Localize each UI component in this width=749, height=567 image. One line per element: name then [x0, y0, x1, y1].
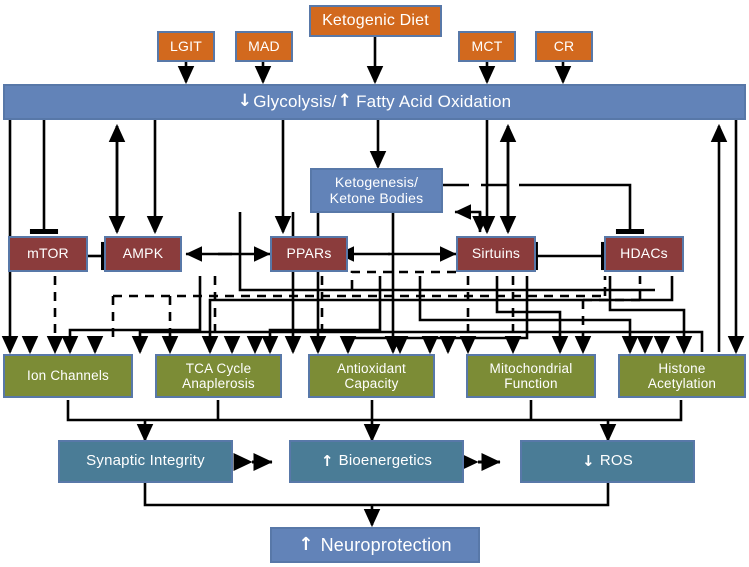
sirtuins-ppars-dashed: [352, 272, 456, 290]
neuroprotection-label: Neuroprotection: [321, 535, 452, 555]
bar-to-ampk: [117, 120, 155, 232]
node-mtor[interactable]: mTOR: [8, 236, 88, 272]
pathway-diagram: Ketogenic Diet LGIT MAD MCT CR ↓ Glycoly…: [0, 0, 749, 567]
node-ketogenic-diet[interactable]: Ketogenic Diet: [309, 5, 442, 37]
neuroprotection-up-arrow-icon: ↑: [298, 535, 313, 555]
ion-channels-line1: Ion Channels: [27, 368, 109, 383]
effects-to-outcomes: [68, 400, 681, 440]
tca-line1: TCA Cycle: [186, 361, 252, 376]
mtor-label: mTOR: [27, 246, 69, 262]
outcomes-to-neuroprotection: [145, 483, 608, 525]
bioenergetics-label: Bioenergetics: [339, 453, 433, 470]
node-ampk[interactable]: AMPK: [104, 236, 182, 272]
lgit-label: LGIT: [170, 39, 202, 55]
up-arrow-icon: ↑: [338, 92, 352, 111]
node-mad[interactable]: MAD: [235, 31, 293, 62]
node-sirtuins[interactable]: Sirtuins: [456, 236, 536, 272]
ppars-label: PPARs: [286, 246, 331, 262]
mitochondrial-line1: Mitochondrial: [490, 361, 573, 376]
tca-line2: Anaplerosis: [182, 376, 255, 391]
node-lgit[interactable]: LGIT: [157, 31, 215, 62]
node-synaptic-integrity[interactable]: Synaptic Integrity: [58, 440, 233, 483]
bar-to-sirtuins: [487, 120, 508, 232]
glycolysis-label: Glycolysis/: [253, 92, 336, 111]
mad-label: MAD: [248, 39, 280, 55]
node-neuroprotection[interactable]: ↑ Neuroprotection: [270, 527, 480, 563]
ampk-label: AMPK: [123, 246, 163, 262]
node-tca-cycle-anaplerosis[interactable]: TCA Cycle Anaplerosis: [155, 354, 282, 398]
node-mct[interactable]: MCT: [458, 31, 516, 62]
node-histone-acetylation[interactable]: Histone Acetylation: [618, 354, 746, 398]
node-metabolic-shift-bar[interactable]: ↓ Glycolysis/ ↑ Fatty Acid Oxidation: [3, 84, 746, 120]
synaptic-integrity-label: Synaptic Integrity: [86, 453, 205, 470]
antioxidant-line2: Capacity: [344, 376, 398, 391]
node-mitochondrial-function[interactable]: Mitochondrial Function: [466, 354, 596, 398]
antioxidant-line1: Antioxidant: [337, 361, 406, 376]
histone-line2: Acetylation: [648, 376, 716, 391]
ros-label: ROS: [600, 453, 633, 470]
node-ppars[interactable]: PPARs: [270, 236, 348, 272]
down-arrow-icon: ↓: [238, 92, 252, 111]
node-cr[interactable]: CR: [535, 31, 593, 62]
ketogenic-diet-label: Ketogenic Diet: [322, 12, 429, 30]
sirtuins-to-ketogenesis-dashed: [455, 212, 480, 232]
node-ketogenesis[interactable]: Ketogenesis/ Ketone Bodies: [310, 168, 443, 213]
node-ion-channels[interactable]: Ion Channels: [3, 354, 133, 398]
mitochondrial-line2: Function: [504, 376, 557, 391]
ketogenesis-right-shelf: [443, 185, 630, 232]
effects-inbound-arrows: [30, 336, 662, 352]
cr-label: CR: [554, 39, 575, 55]
node-antioxidant-capacity[interactable]: Antioxidant Capacity: [308, 354, 435, 398]
ketogenesis-line1: Ketogenesis/: [335, 175, 418, 191]
node-hdacs[interactable]: HDACs: [604, 236, 684, 272]
mct-label: MCT: [472, 39, 503, 55]
ketogenesis-line2: Ketone Bodies: [330, 191, 424, 207]
hdacs-label: HDACs: [620, 246, 668, 262]
ros-down-arrow-icon: ↓: [582, 453, 595, 470]
fatty-acid-oxidation-label: Fatty Acid Oxidation: [356, 92, 511, 111]
node-ros[interactable]: ↓ ROS: [520, 440, 695, 483]
node-bioenergetics[interactable]: ↑ Bioenergetics: [289, 440, 464, 483]
bioenergetics-up-arrow-icon: ↑: [321, 453, 334, 470]
histone-line1: Histone: [658, 361, 705, 376]
sirtuins-label: Sirtuins: [472, 246, 520, 262]
